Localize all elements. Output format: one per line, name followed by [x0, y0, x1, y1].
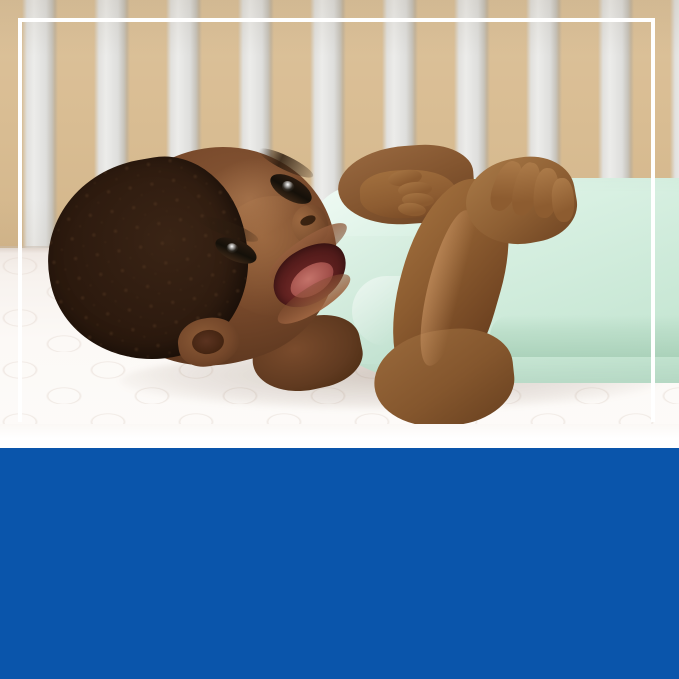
photo-banner-divider	[0, 424, 679, 448]
photo-white-border-frame	[18, 18, 655, 422]
feature-banner: Soft and comfortable cotton blend top ke…	[0, 448, 679, 679]
product-feature-image: Soft and comfortable cotton blend top ke…	[0, 0, 679, 679]
lifestyle-photo	[0, 0, 679, 448]
